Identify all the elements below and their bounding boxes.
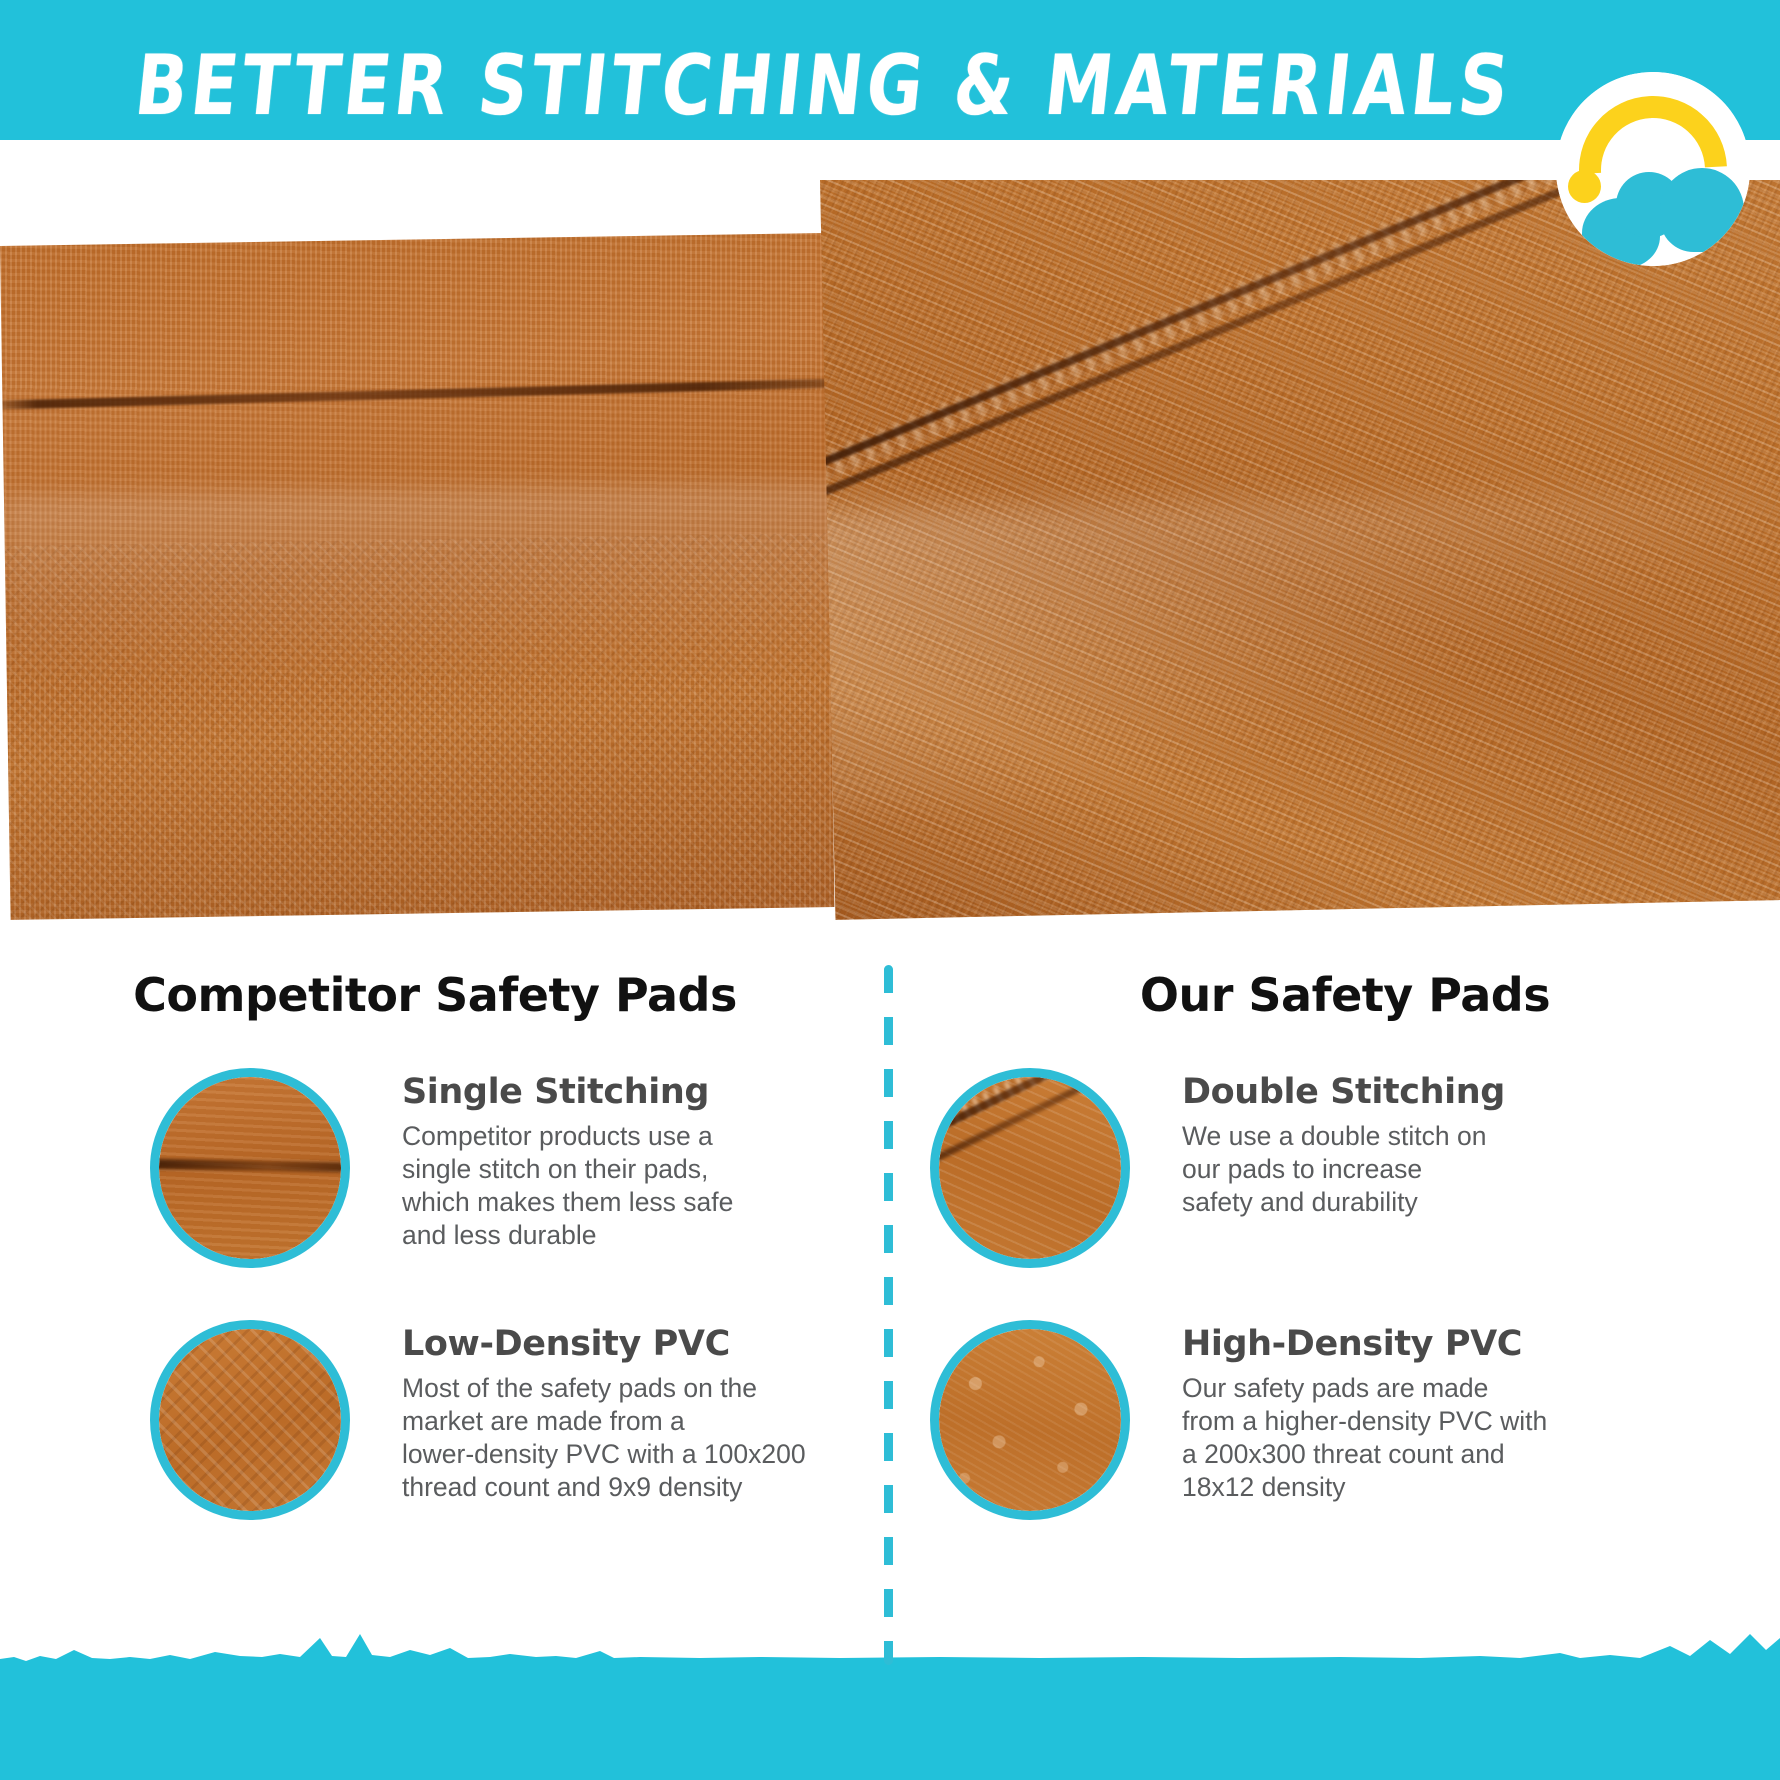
feature-body: Our safety pads are made from a higher-d… xyxy=(1182,1372,1612,1504)
infographic-canvas: BETTER STITCHING & MATERIALS xyxy=(0,0,1780,1780)
photo-comparison-band xyxy=(0,180,1780,920)
fabric-sheen xyxy=(4,482,835,676)
fabric-sheen xyxy=(820,488,1780,811)
single-stitch-thumbnail[interactable] xyxy=(150,1068,350,1268)
thumbnail-texture xyxy=(159,1329,341,1511)
sun-dot-icon xyxy=(1568,170,1601,203)
feature-title: Double Stitching xyxy=(1182,1072,1612,1112)
double-stitch-thumbnail[interactable] xyxy=(930,1068,1130,1268)
feature-body: Competitor products use a single stitch … xyxy=(402,1120,822,1252)
feature-text-high-density-pvc: High-Density PVC Our safety pads are mad… xyxy=(1182,1324,1612,1504)
feature-title: Single Stitching xyxy=(402,1072,822,1112)
low-density-pvc-thumbnail[interactable] xyxy=(150,1320,350,1520)
feature-title: Low-Density PVC xyxy=(402,1324,822,1364)
column-divider xyxy=(884,965,893,1665)
logo-inner xyxy=(1556,72,1750,266)
double-stitch-thumbnail-image xyxy=(939,1077,1121,1259)
feature-double-stitching: Double Stitching We use a double stitch … xyxy=(910,1068,1740,1318)
feature-title: High-Density PVC xyxy=(1182,1324,1612,1364)
torn-edge-top-shape xyxy=(0,140,1780,180)
feature-text-single-stitching: Single Stitching Competitor products use… xyxy=(402,1072,822,1252)
feature-single-stitching: Single Stitching Competitor products use… xyxy=(0,1068,830,1318)
footer-banner xyxy=(0,1662,1780,1780)
low-density-pvc-thumbnail-image xyxy=(159,1329,341,1511)
column-ours: Our Safety Pads Double Stitching We use … xyxy=(910,920,1780,1640)
column-competitor: Competitor Safety Pads Single Stitching … xyxy=(0,920,870,1640)
single-stitch-thumbnail-image xyxy=(159,1077,341,1259)
high-density-pvc-thumbnail[interactable] xyxy=(930,1320,1130,1520)
our-pad-photo xyxy=(820,180,1780,920)
feature-low-density-pvc: Low-Density PVC Most of the safety pads … xyxy=(0,1320,830,1570)
column-title-competitor: Competitor Safety Pads xyxy=(0,968,870,1022)
single-stitch-seam xyxy=(0,377,834,410)
feature-text-double-stitching: Double Stitching We use a double stitch … xyxy=(1182,1072,1612,1219)
feature-body: We use a double stitch on our pads to in… xyxy=(1182,1120,1612,1219)
feature-body: Most of the safety pads on the market ar… xyxy=(402,1372,822,1504)
cloud-icon-right xyxy=(1660,168,1744,252)
thumbnail-texture xyxy=(939,1329,1121,1511)
page-title: BETTER STITCHING & MATERIALS xyxy=(0,26,1660,148)
brand-logo[interactable] xyxy=(1556,72,1750,266)
competitor-pad-photo xyxy=(0,233,834,920)
feature-high-density-pvc: High-Density PVC Our safety pads are mad… xyxy=(910,1320,1740,1570)
column-title-ours: Our Safety Pads xyxy=(910,968,1780,1022)
high-density-pvc-thumbnail-image xyxy=(939,1329,1121,1511)
torn-edge-top xyxy=(0,140,1780,180)
header-banner: BETTER STITCHING & MATERIALS xyxy=(0,0,1780,158)
feature-text-low-density-pvc: Low-Density PVC Most of the safety pads … xyxy=(402,1324,822,1504)
